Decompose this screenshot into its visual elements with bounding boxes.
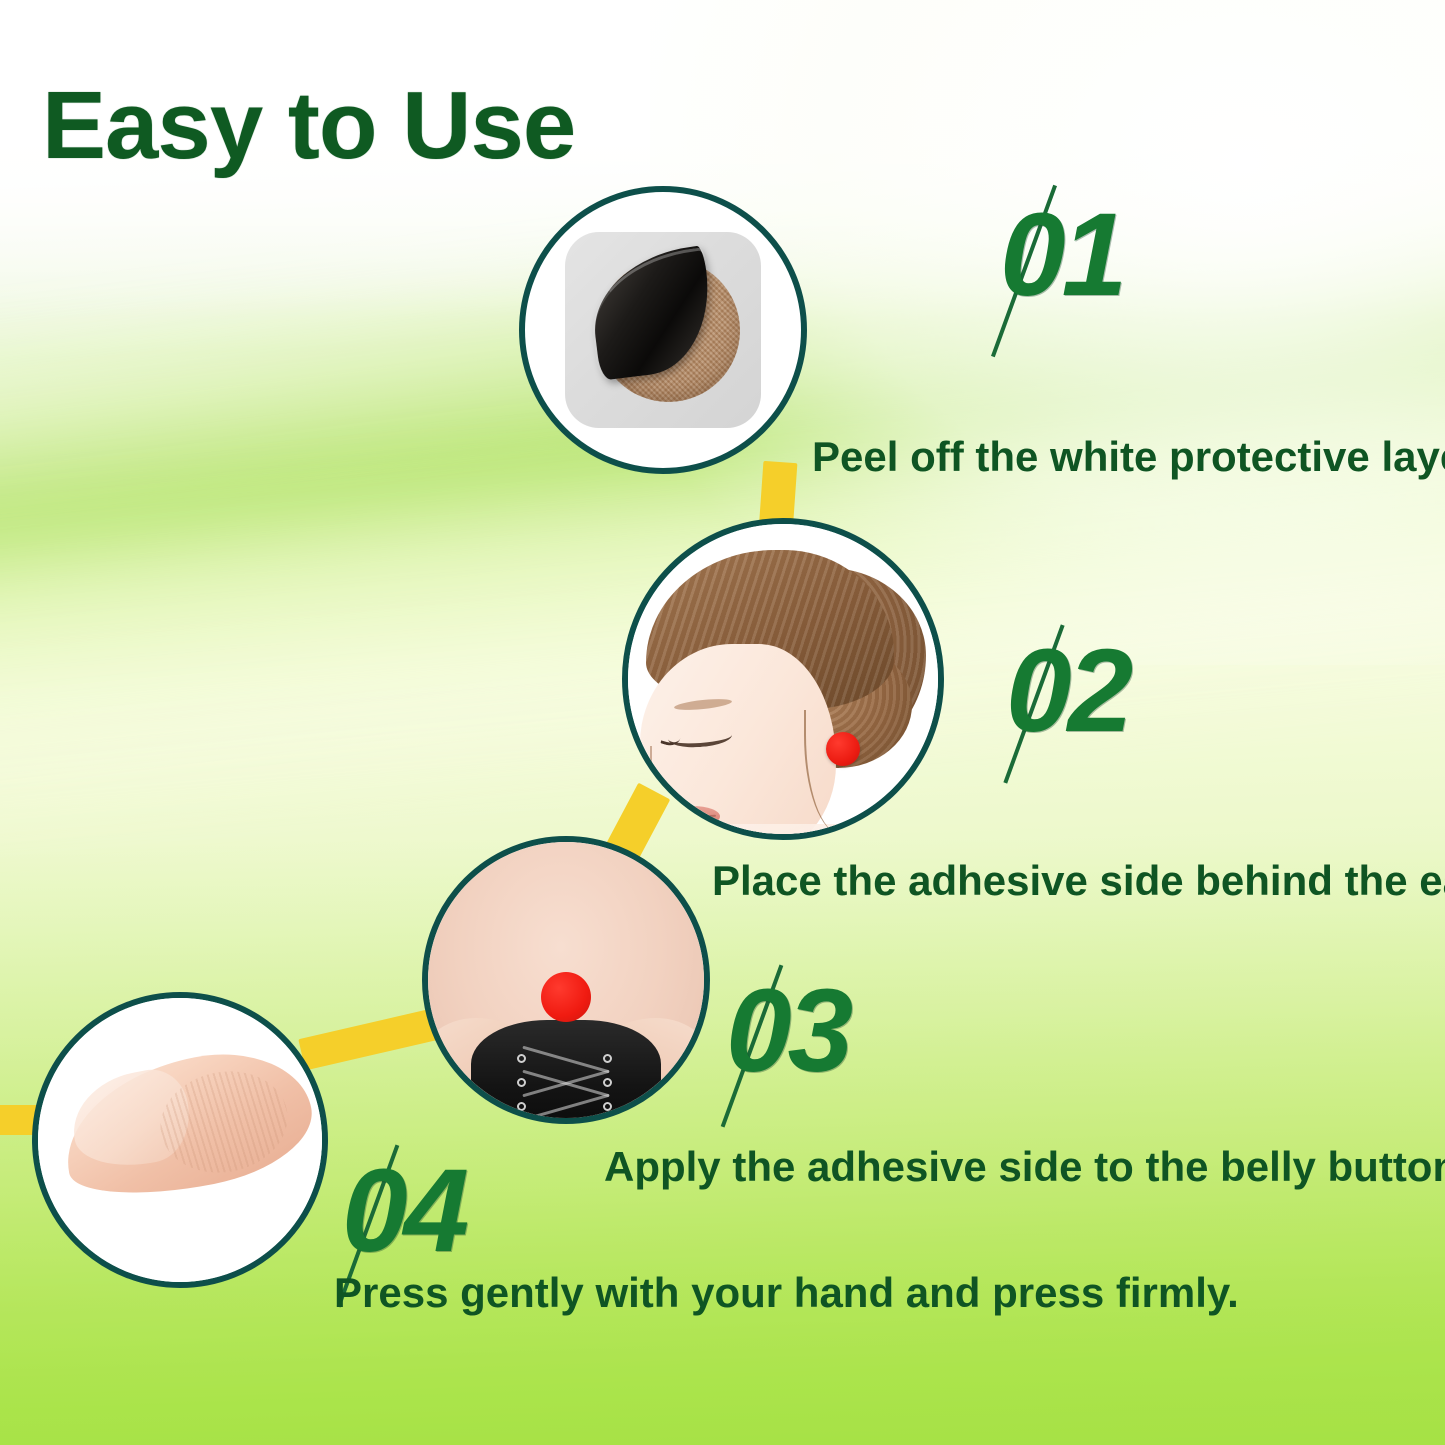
black-laced-garment bbox=[471, 1020, 661, 1124]
patch-dot-behind-ear bbox=[826, 732, 860, 766]
step-4-image-circle bbox=[32, 992, 328, 1288]
step-1-image-circle bbox=[519, 186, 807, 474]
lace-cord bbox=[522, 1094, 609, 1122]
step-3-caption: Apply the adhesive side to the belly but… bbox=[604, 1146, 1445, 1188]
step-4-number: 04 bbox=[342, 1152, 465, 1270]
lace-eyelet bbox=[517, 1078, 526, 1087]
easy-to-use-poster: Easy to Use 01 Peel off the white protec… bbox=[0, 0, 1445, 1445]
lace-eyelet bbox=[603, 1078, 612, 1087]
lace-eyelet bbox=[603, 1054, 612, 1063]
step-2-number: 02 bbox=[1006, 632, 1129, 750]
lace-eyelet bbox=[517, 1102, 526, 1111]
lace-eyelet bbox=[517, 1054, 526, 1063]
step-4-caption: Press gently with your hand and press fi… bbox=[334, 1272, 1239, 1314]
step-1-number: 01 bbox=[1000, 196, 1123, 314]
step-2-image-circle bbox=[622, 518, 944, 840]
patch-dot-on-navel bbox=[541, 972, 591, 1022]
step-3-number: 03 bbox=[726, 972, 849, 1090]
step-2-caption: Place the adhesive side behind the ear bbox=[712, 860, 1445, 902]
step-1-caption: Peel off the white protective layer bbox=[812, 436, 1445, 478]
patch-backing-square bbox=[565, 232, 761, 428]
lace-eyelet bbox=[603, 1102, 612, 1111]
lace-cord bbox=[522, 1046, 609, 1074]
step-3-image-circle bbox=[422, 836, 710, 1124]
page-title: Easy to Use bbox=[42, 78, 575, 174]
